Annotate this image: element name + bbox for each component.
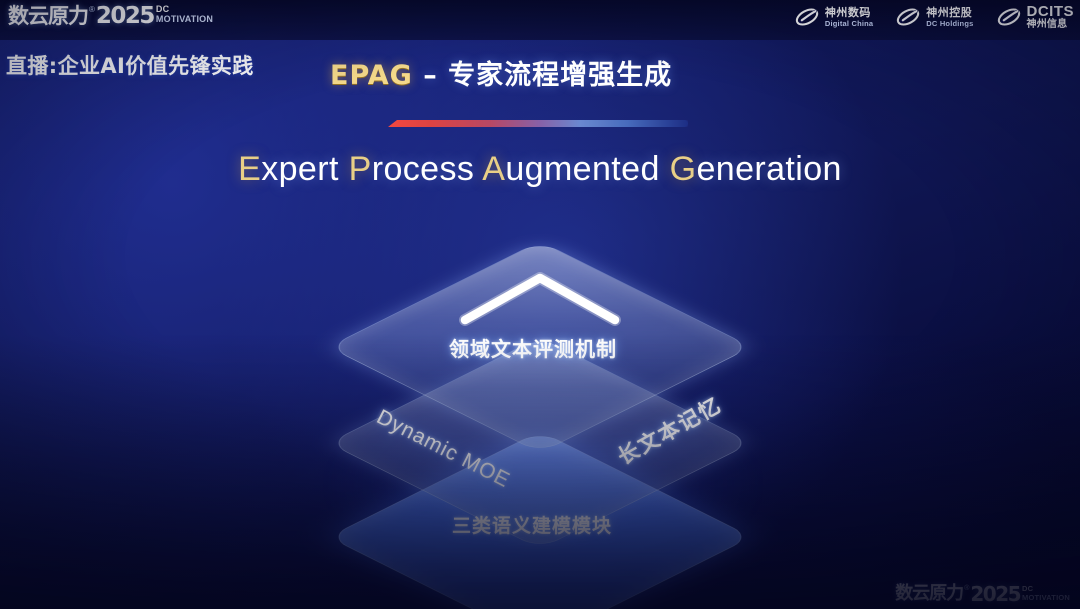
brand-dc-line1: DC: [156, 5, 213, 14]
swoosh-icon: [794, 6, 820, 28]
layer-label-bottom: 三类语义建模模块: [452, 511, 612, 538]
brand-dc-motivation: DC MOTIVATION: [156, 3, 213, 24]
swoosh-icon: [895, 6, 921, 28]
watermark-registered-mark: ®: [964, 584, 969, 594]
watermark-dc-line2: MOTIVATION: [1022, 594, 1070, 602]
chevron-up-icon: [457, 268, 623, 328]
partner-name-cn: DCITS: [1027, 4, 1075, 19]
partner-label: DCITS 神州信息: [1027, 4, 1075, 30]
headline-acronym: EPAG: [330, 60, 413, 91]
slide-subheadline: Expert Process Augmented Generation: [0, 150, 1080, 189]
corner-watermark: 数云原力 ® 2025 DC MOTIVATION: [895, 583, 1070, 605]
watermark-year: 2025: [970, 583, 1020, 605]
headline-chinese: 专家流程增强生成: [448, 60, 672, 91]
partner-logo-group: 神州数码 Digital China 神州控股 DC Holdings: [794, 4, 1074, 30]
partner-name-en: DC Holdings: [926, 20, 973, 28]
subheadline-part-7: eneration: [696, 150, 841, 188]
partner-name-cn: 神州控股: [926, 7, 973, 18]
partner-name-en: 神州信息: [1027, 20, 1075, 30]
partner-name-cn: 神州数码: [825, 7, 873, 18]
partner-label: 神州控股 DC Holdings: [926, 7, 973, 28]
subheadline-part-2: P: [349, 150, 372, 188]
subheadline-part-1: xpert: [261, 150, 348, 188]
layer-label-top: 领域文本评测机制: [449, 333, 617, 362]
subheadline-part-4: A: [482, 150, 505, 188]
partner-label: 神州数码 Digital China: [825, 7, 873, 28]
watermark-name-cn: 数云原力: [895, 583, 963, 605]
watermark-dc-line1: DC: [1022, 585, 1070, 593]
partner-logo-digital-china: 神州数码 Digital China: [794, 6, 873, 28]
registered-mark: ®: [89, 4, 95, 16]
watermark-dc-motivation: DC MOTIVATION: [1022, 583, 1070, 601]
swoosh-icon: [996, 6, 1022, 28]
brand-dc-line2: MOTIVATION: [156, 15, 213, 24]
slide-stage: 数云原力 ® 2025 DC MOTIVATION 直播:企业AI价值先锋实践 …: [0, 0, 1080, 609]
gradient-divider: [388, 120, 688, 127]
slide-headline: EPAG – 专家流程增强生成: [330, 53, 672, 92]
live-session-title: 直播:企业AI价值先锋实践: [6, 50, 254, 80]
brand-year: 2025: [96, 3, 154, 29]
subheadline-part-0: E: [238, 150, 261, 188]
subheadline-part-5: ugmented: [505, 150, 669, 188]
brand-name-cn: 数云原力: [8, 3, 88, 29]
event-brand-logo: 数云原力 ® 2025 DC MOTIVATION: [8, 3, 213, 31]
partner-logo-dcits: DCITS 神州信息: [996, 4, 1075, 30]
subheadline-part-6: G: [670, 150, 697, 188]
headline-separator: –: [413, 60, 448, 91]
partner-logo-dc-holdings: 神州控股 DC Holdings: [895, 6, 973, 28]
subheadline-part-3: rocess: [372, 150, 483, 188]
partner-name-en: Digital China: [825, 20, 873, 28]
